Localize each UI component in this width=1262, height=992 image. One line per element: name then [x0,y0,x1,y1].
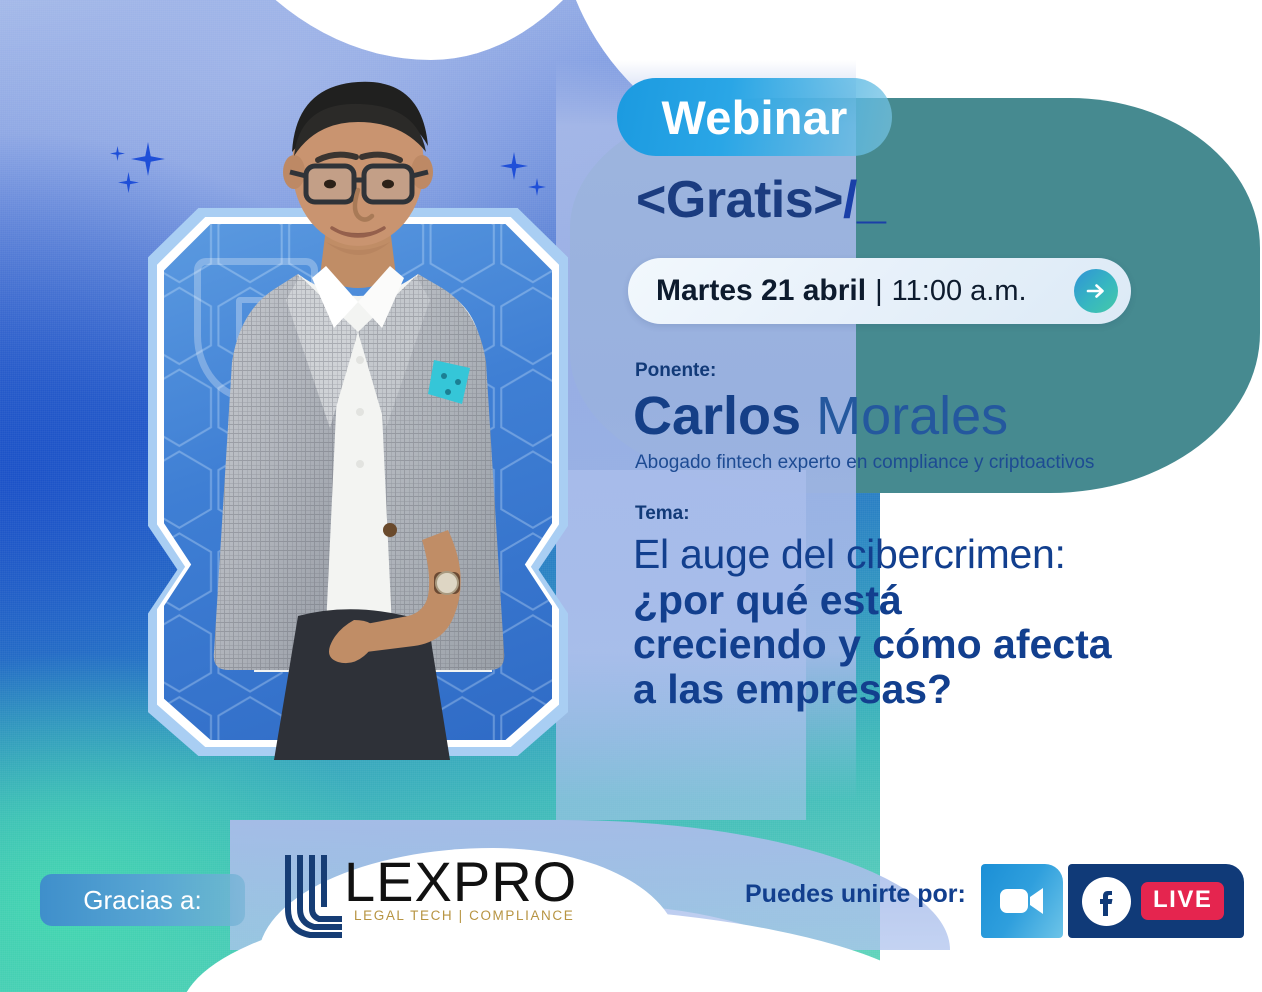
speaker-label: Ponente: [635,360,716,382]
live-label: LIVE [1141,882,1224,920]
topic-line-3: creciendo y cómo afecta [633,623,1258,665]
free-tag-slash: / [843,171,857,229]
event-date: Martes 21 abril [656,274,866,308]
event-time: 11:00 a.m. [892,275,1027,308]
arrow-right-icon[interactable] [1074,269,1118,313]
thanks-badge: Gracias a: [40,874,245,926]
lexpro-mark-icon [282,851,344,951]
topic-line-2: ¿por qué está [633,579,1258,621]
topic-headline: El auge del cibercrimen: ¿por qué está c… [633,533,1258,710]
free-tag-open: < [636,171,666,229]
zoom-badge[interactable] [981,864,1063,938]
facebook-icon [1082,877,1131,926]
thanks-label: Gracias a: [83,885,202,916]
free-tag-close: > [813,171,843,229]
webinar-poster: Webinar <Gratis>/_ Martes 21 abril | 11:… [0,0,1262,992]
facebook-live-badge[interactable]: LIVE [1068,864,1244,938]
topic-label: Tema: [635,503,690,525]
topic-line-1: El auge del cibercrimen: [633,533,1258,575]
content-column: Webinar <Gratis>/_ Martes 21 abril | 11:… [620,0,1262,992]
webinar-badge: Webinar [617,78,892,156]
zoom-camera-icon [999,886,1045,916]
free-tag: <Gratis>/_ [636,170,885,230]
webinar-badge-label: Webinar [662,90,848,145]
speaker-role: Abogado fintech experto en compliance y … [635,452,1094,474]
sponsor-logo[interactable]: LEXPRO LEGAL TECH | COMPLIANCE [282,845,572,950]
speaker-first-name: Carlos [633,386,801,446]
speaker-portrait [148,60,568,760]
event-separator: | [875,275,883,308]
event-date-pill[interactable]: Martes 21 abril | 11:00 a.m. [628,258,1131,324]
sponsor-name: LEXPRO [344,849,577,914]
topic-line-4: a las empresas? [633,668,1258,710]
free-tag-cursor: _ [857,171,885,229]
speaker-name: Carlos Morales [633,385,1008,447]
join-label: Puedes unirte por: [745,880,966,909]
sponsor-tagline: LEGAL TECH | COMPLIANCE [354,908,574,923]
speaker-last-name: Morales [801,386,1008,446]
free-tag-word: Gratis [666,171,813,229]
speaker-photo-frame [148,208,568,756]
